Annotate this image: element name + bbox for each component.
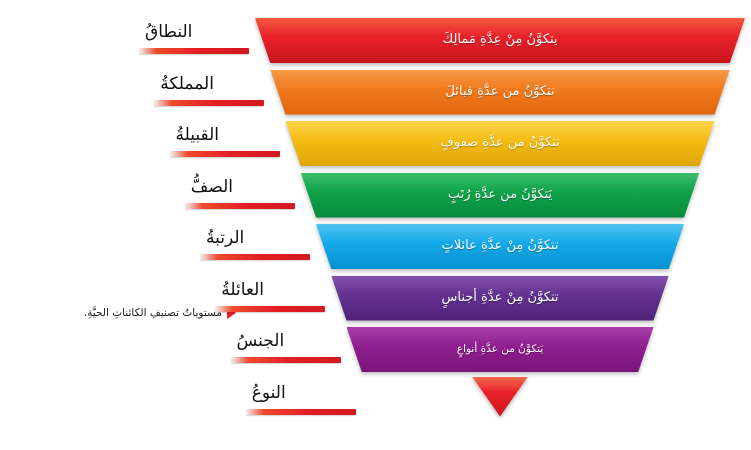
funnel-tip-triangle [472,377,528,417]
funnel-level-3: القبيلةُتتكوَّنُ من عدَّةِ صفوفٍ [0,121,751,169]
level-label-text: المملكةُ [154,70,220,93]
level-label-text: الجنسُ [231,327,291,350]
level-label-underline [215,306,325,312]
funnel-band-5: تتكوَّنُ مِنْ عدَّةِ عائلاتٍ [316,224,684,269]
funnel-band-3: تتكوَّنُ من عدَّةِ صفوفٍ [286,121,715,166]
level-label-5: الرتبةُ [200,224,310,272]
band-description-text: تتكوَّنُ من عدَّةِ صفوفٍ [434,135,565,151]
level-label-8: النوعُ [246,379,356,427]
level-label-7: الجنسُ [231,327,341,375]
taxonomy-funnel-diagram: مستوياتُ تصنيفِ الكائناتِ الحيَّةِ. النط… [0,0,751,450]
level-label-2: المملكةُ [154,70,264,118]
level-label-text: النوعُ [246,379,292,402]
funnel-band-1: يتكوَّنُ مِنْ عِدَّةِ مَمالِكَ [255,18,745,63]
funnel-level-6: العائلةُتتكوَّنُ مِنْ عدَّةِ أجناسٍ [0,276,751,324]
level-label-6: العائلةُ [215,276,325,324]
level-label-1: النطاقُ [139,18,249,66]
level-label-text: العائلةُ [215,276,270,299]
funnel-level-1: النطاقُيتكوَّنُ مِنْ عِدَّةِ مَمالِكَ [0,18,751,66]
funnel-level-7: الجنسُيَتكوَّنُ من عدَّةِ أنواعٍ [0,327,751,375]
funnel-band-4: يَتكوَّنُ من عدَّةِ رُتَبٍ [301,173,700,218]
level-label-underline [170,151,280,157]
level-label-underline [154,100,264,106]
funnel-band-7: يَتكوَّنُ من عدَّةِ أنواعٍ [347,327,654,372]
funnel-level-8: النوعُ [0,379,751,427]
level-label-text: الصفُّ [185,173,239,196]
tip-fill [472,377,528,417]
level-label-text: الرتبةُ [200,224,250,247]
funnel-level-4: الصفُّيَتكوَّنُ من عدَّةِ رُتَبٍ [0,173,751,221]
level-label-text: القبيلةُ [170,121,226,144]
level-label-underline [185,203,295,209]
funnel-band-2: تتكوَّنُ من عدَّةِ قبائلَ [270,70,730,115]
band-description-text: تتكوَّنُ من عدَّةِ قبائلَ [439,84,560,100]
band-description-text: يتكوَّنُ مِنْ عِدَّةِ مَمالِكَ [437,32,564,48]
level-label-text: النطاقُ [139,18,198,41]
funnel-band-6: تتكوَّنُ مِنْ عدَّةِ أجناسٍ [331,276,669,321]
band-description-text: يَتكوَّنُ من عدَّةِ رُتَبٍ [442,187,558,203]
level-label-underline [200,254,310,260]
band-description-text: تتكوَّنُ مِنْ عدَّةِ أجناسٍ [435,290,564,306]
funnel-level-5: الرتبةُتتكوَّنُ مِنْ عدَّةِ عائلاتٍ [0,224,751,272]
level-label-3: القبيلةُ [170,121,280,169]
level-label-underline [246,409,356,415]
funnel-level-2: المملكةُتتكوَّنُ من عدَّةِ قبائلَ [0,70,751,118]
level-label-underline [231,357,341,363]
level-label-4: الصفُّ [185,173,295,221]
band-description-text: تتكوَّنُ مِنْ عدَّةِ عائلاتٍ [436,238,565,254]
level-label-underline [139,48,249,54]
band-description-text: يَتكوَّنُ من عدَّةِ أنواعٍ [451,343,549,356]
